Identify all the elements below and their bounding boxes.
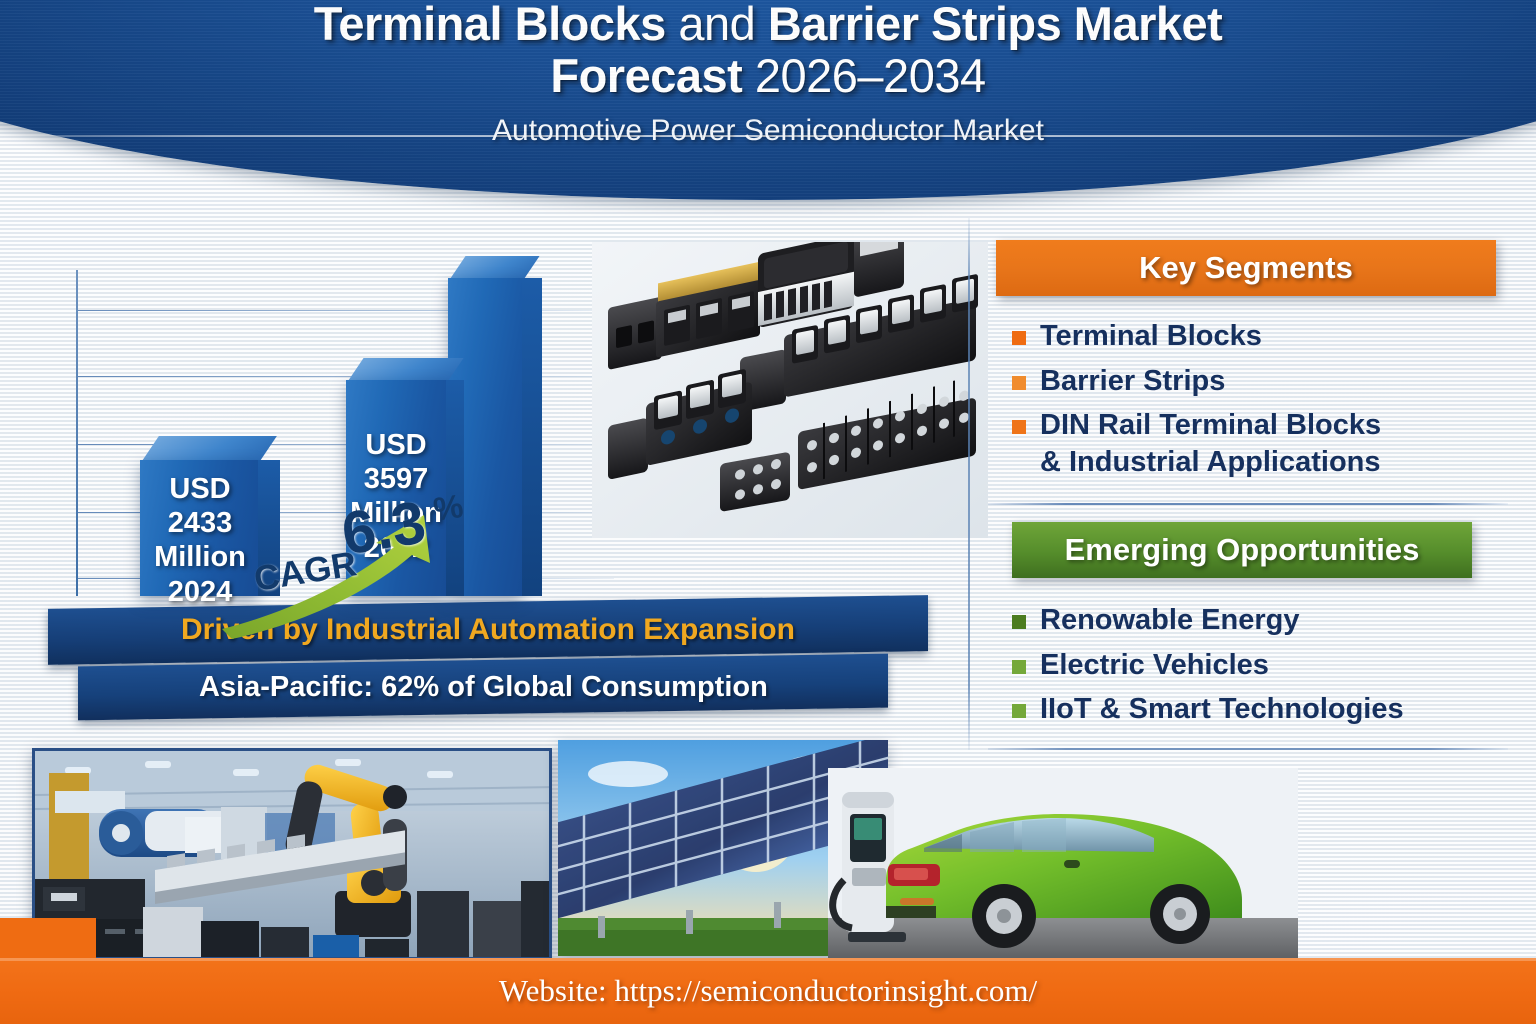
- page-title-line1: Terminal Blocks and Barrier Strips Marke…: [31, 0, 1506, 48]
- title-connector: and: [666, 0, 768, 50]
- key-segments-heading: Key Segments: [996, 240, 1496, 296]
- opportunity-item-1: Electric Vehicles: [1040, 647, 1269, 684]
- header-banner: Terminal Blocks and Barrier Strips Marke…: [0, 0, 1536, 200]
- list-item: Terminal Blocks: [1012, 318, 1512, 355]
- panel-horizontal-divider: [988, 503, 1508, 505]
- bullet-square-icon: [1012, 331, 1026, 345]
- opportunity-item-0: Renowable Energy: [1040, 602, 1299, 639]
- cagr-label: CAGR: [251, 544, 359, 600]
- page-title-line2: Forecast 2026–2034: [31, 52, 1506, 100]
- page-subtitle: Automotive Power Semiconductor Market: [31, 114, 1506, 148]
- infographic-page: Terminal Blocks and Barrier Strips Marke…: [0, 0, 1536, 1024]
- panel-horizontal-divider-bottom: [988, 748, 1508, 750]
- bullet-square-icon: [1012, 704, 1026, 718]
- list-item: Barrier Strips: [1012, 363, 1512, 400]
- market-growth-bar-chart: USD 3597 Million 2032 USD 2433 Million 2…: [58, 248, 618, 608]
- region-banner: Asia-Pacific: 62% of Global Consumption: [78, 654, 888, 721]
- cagr-percent-sign: %: [431, 487, 466, 529]
- bullet-square-icon: [1012, 660, 1026, 674]
- list-item: Electric Vehicles: [1012, 647, 1512, 684]
- opportunity-item-2: IIoT & Smart Technologies: [1040, 691, 1404, 728]
- key-segments-heading-text: Key Segments: [1139, 250, 1353, 286]
- title-forecast-years: 2026–2034: [755, 49, 986, 102]
- list-item: Renowable Energy: [1012, 602, 1512, 639]
- title-forecast-word: Forecast: [550, 49, 754, 102]
- bullet-square-icon: [1012, 615, 1026, 629]
- website-url-text: Website: https://semiconductorinsight.co…: [499, 973, 1037, 1009]
- segment-item-2: DIN Rail Terminal Blocks & Industrial Ap…: [1040, 407, 1381, 480]
- bar-side-face: [522, 278, 542, 596]
- bullet-square-icon: [1012, 420, 1026, 434]
- region-banner-text: Asia-Pacific: 62% of Global Consumption: [199, 671, 768, 704]
- emerging-opportunities-heading: Emerging Opportunities: [1012, 522, 1472, 578]
- cagr-value: 6.3: [337, 487, 430, 568]
- chart-y-axis: [76, 270, 78, 596]
- segment-item-0: Terminal Blocks: [1040, 318, 1262, 355]
- bullet-square-icon: [1012, 376, 1026, 390]
- industrial-automation-photo: [32, 748, 552, 960]
- segment-item-1: Barrier Strips: [1040, 363, 1225, 400]
- panel-vertical-divider: [968, 218, 970, 750]
- key-segments-list: Terminal Blocks Barrier Strips DIN Rail …: [1012, 318, 1512, 488]
- terminal-blocks-product-photo: [592, 242, 988, 538]
- footer-bar: Website: https://semiconductorinsight.co…: [0, 958, 1536, 1024]
- list-item: IIoT & Smart Technologies: [1012, 691, 1512, 728]
- list-item: DIN Rail Terminal Blocks & Industrial Ap…: [1012, 407, 1512, 480]
- title-part2: Barrier Strips Market: [768, 0, 1222, 50]
- title-part1: Terminal Blocks: [314, 0, 666, 50]
- emerging-opportunities-list: Renowable Energy Electric Vehicles IIoT …: [1012, 602, 1512, 736]
- ev-charging-photo: [828, 768, 1298, 960]
- header-text-block: Terminal Blocks and Barrier Strips Marke…: [31, 0, 1506, 148]
- emerging-opportunities-heading-text: Emerging Opportunities: [1065, 532, 1420, 568]
